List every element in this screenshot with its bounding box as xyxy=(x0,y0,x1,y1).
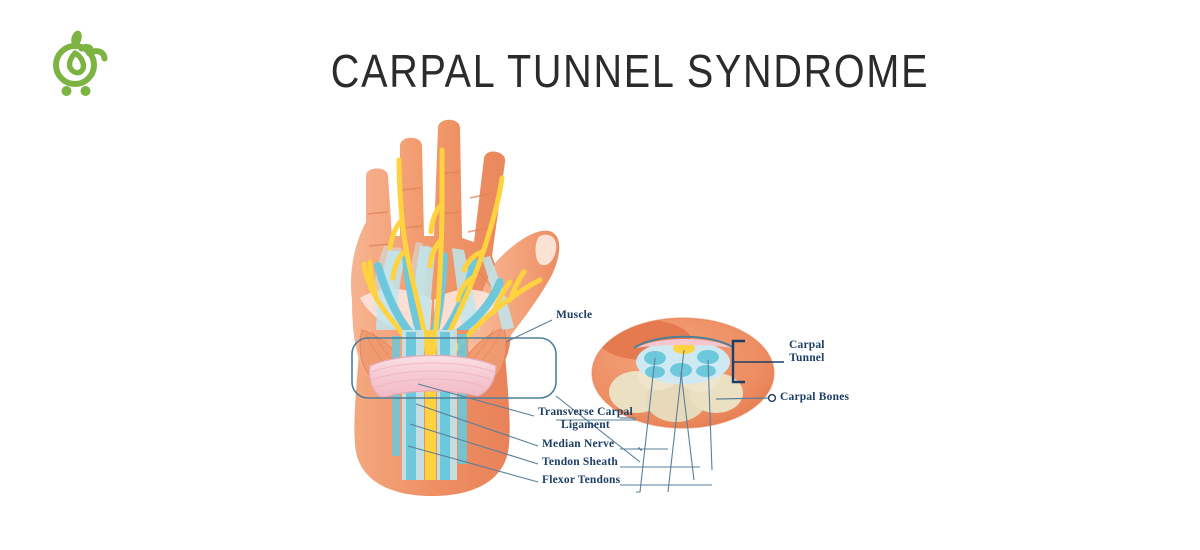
label-flexor-tendons: Flexor Tendons xyxy=(542,474,620,487)
carpal-bones-marker xyxy=(769,395,776,402)
median-nerve-wrist xyxy=(425,330,436,480)
label-median-nerve: Median Nerve xyxy=(542,438,614,451)
label-transverse-carpal-ligament: Transverse Carpal Ligament xyxy=(538,406,633,432)
label-muscle: Muscle xyxy=(556,309,592,322)
label-carpal-bones: Carpal Bones xyxy=(780,391,849,404)
label-carpal-tunnel: Carpal Tunnel xyxy=(789,339,825,365)
illustration-canvas: CARPAL TUNNEL SYNDROME xyxy=(0,0,1200,550)
label-tendon-sheath: Tendon Sheath xyxy=(542,456,618,469)
right-rule-lines xyxy=(620,418,712,485)
hand-palm-view xyxy=(351,120,559,496)
